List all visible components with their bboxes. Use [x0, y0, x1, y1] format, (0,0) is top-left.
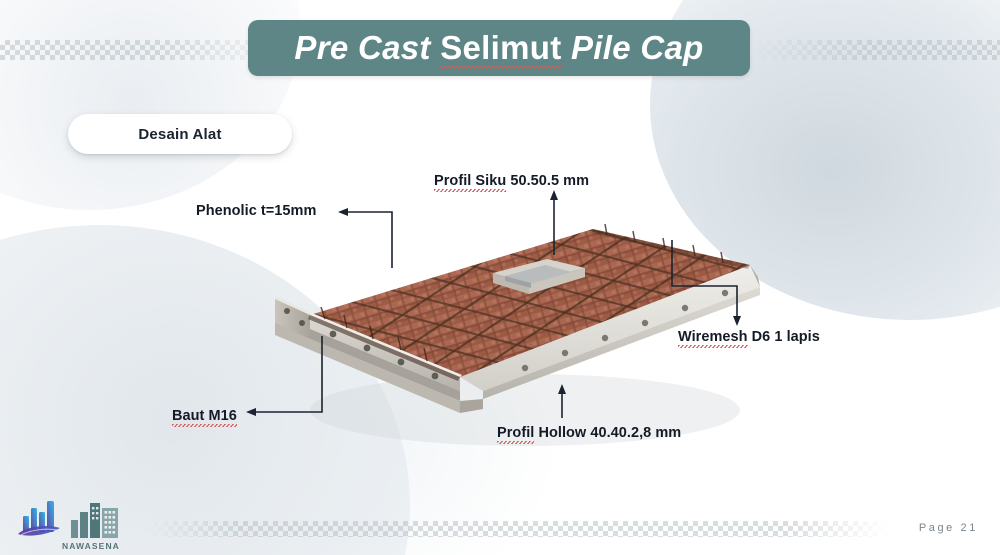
- callout-text-phenolic: Phenolic t=15mm: [196, 203, 316, 219]
- callout-label-profil-siku: Profil Siku 50.50.5 mm: [434, 173, 589, 189]
- callout-label-phenolic: Phenolic t=15mm: [196, 203, 316, 219]
- checkerboard-strip-bottom: [148, 521, 888, 537]
- callout-text-wiremesh-b: D6 1 lapis: [748, 329, 820, 345]
- callout-text-profil-siku-a: Profil Siku: [434, 173, 506, 192]
- callout-text-wiremesh-a: Wiremesh: [678, 329, 748, 348]
- page-title: Pre Cast Selimut Pile Cap: [294, 29, 703, 67]
- callout-text-profil-hollow-a: Profil: [497, 425, 534, 444]
- section-pill-desain-alat[interactable]: Desain Alat: [68, 114, 292, 154]
- title-part-selimut: Selimut: [440, 29, 561, 69]
- nawasena-wordmark: NAWASENA: [62, 541, 120, 551]
- checkerboard-strip-right: [752, 40, 1000, 60]
- callout-label-wiremesh: Wiremesh D6 1 lapis: [678, 329, 820, 345]
- callout-text-baut: Baut M16: [172, 408, 237, 427]
- callout-text-profil-siku-b: 50.50.5 mm: [506, 173, 589, 189]
- presentation-slide: Pre Cast Selimut Pile Cap Desain Alat: [0, 0, 1000, 555]
- section-pill-label: Desain Alat: [138, 126, 221, 143]
- bar-chart-swoosh-logo: [14, 494, 64, 542]
- page-number: Page 21: [919, 522, 978, 534]
- title-part-pre-cast: Pre Cast: [294, 29, 440, 66]
- callout-label-profil-hollow: Profil Hollow 40.40.2,8 mm: [497, 425, 681, 441]
- callout-text-profil-hollow-b: Hollow 40.40.2,8 mm: [534, 425, 681, 441]
- nawasena-building-logo: [66, 496, 122, 540]
- checkerboard-strip-left: [0, 40, 290, 60]
- slide-title-bar: Pre Cast Selimut Pile Cap: [248, 20, 750, 76]
- title-part-pile-cap: Pile Cap: [561, 29, 703, 66]
- callout-label-baut: Baut M16: [172, 408, 237, 424]
